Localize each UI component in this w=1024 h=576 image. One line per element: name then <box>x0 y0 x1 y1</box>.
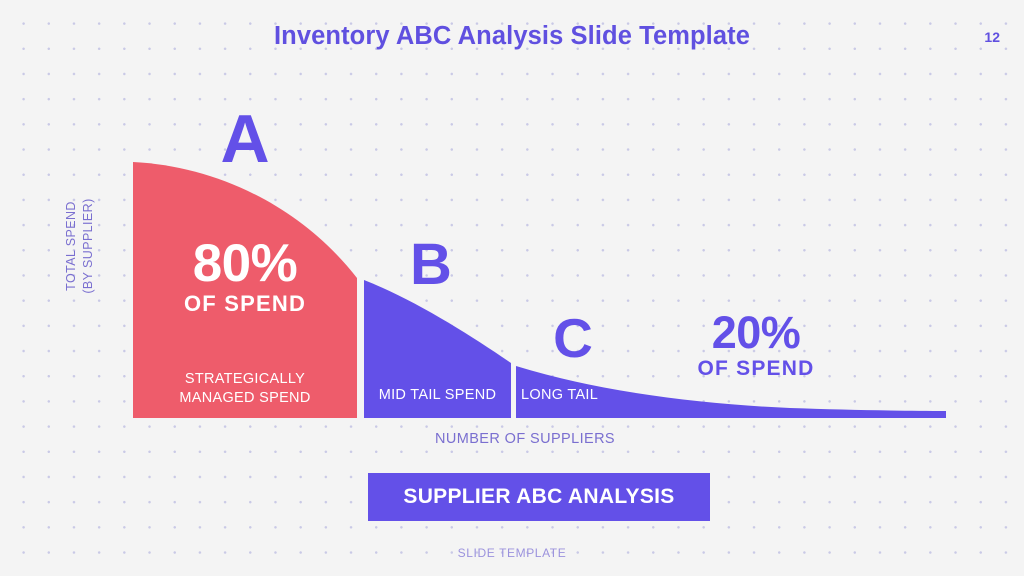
band-label-a-line2: MANAGED SPEND <box>179 390 310 406</box>
band-label-a-line1: STRATEGICALLY <box>185 371 305 387</box>
footer-text: SLIDE TEMPLATE <box>0 546 1024 560</box>
segment-letter-a: A <box>205 101 285 177</box>
y-axis-label-line2: (BY SUPPLIER) <box>80 156 97 336</box>
page-title: Inventory ABC Analysis Slide Template <box>0 22 1024 51</box>
segment-letter-c: C <box>538 307 608 369</box>
stat-a-value: 80% <box>133 237 357 291</box>
stat-c: 20% OF SPEND <box>660 310 852 381</box>
stat-a: 80% OF SPEND <box>133 237 357 317</box>
band-label-c: LONG TAIL <box>521 386 651 405</box>
segment-letter-b: B <box>396 232 466 298</box>
stat-c-value: 20% <box>660 310 852 356</box>
band-label-b: MID TAIL SPEND <box>364 386 511 405</box>
stat-a-caption: OF SPEND <box>133 291 357 317</box>
stat-c-caption: OF SPEND <box>660 356 852 381</box>
supplier-abc-analysis-banner: SUPPLIER ABC ANALYSIS <box>368 473 710 521</box>
band-label-a: STRATEGICALLY MANAGED SPEND <box>133 370 357 408</box>
y-axis-label-line1: TOTAL SPEND <box>63 156 80 336</box>
page-number: 12 <box>984 29 1000 45</box>
y-axis-label: TOTAL SPEND (BY SUPPLIER) <box>63 156 97 336</box>
slide-canvas: Inventory ABC Analysis Slide Template 12… <box>0 0 1024 576</box>
x-axis-label: NUMBER OF SUPPLIERS <box>345 431 705 447</box>
